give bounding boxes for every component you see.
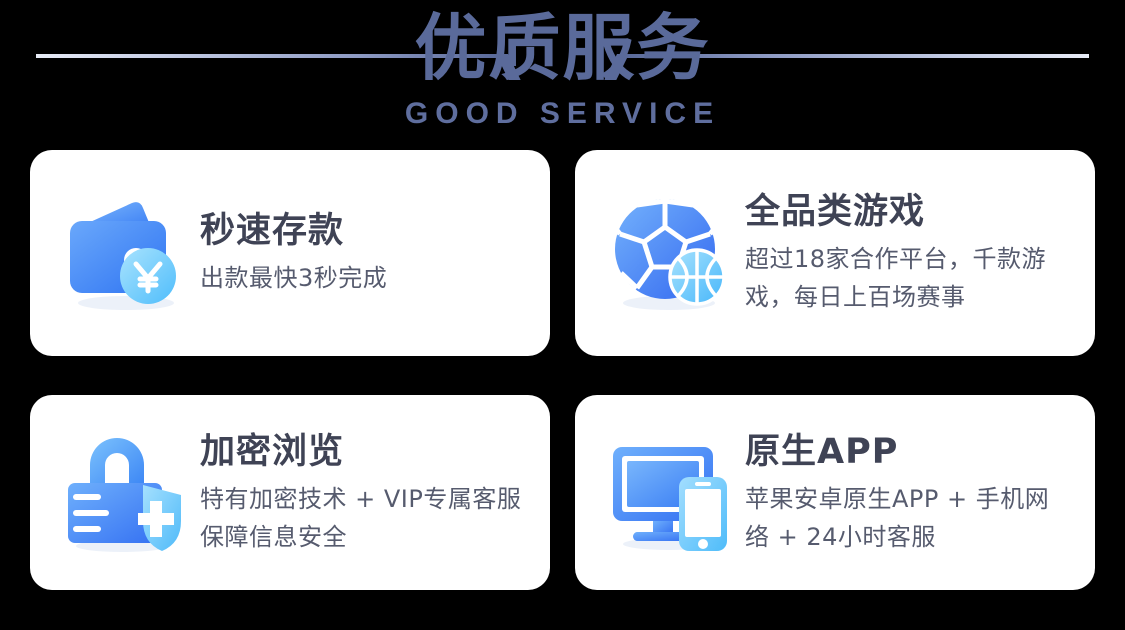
card-text-encryption: 加密浏览 特有加密技术 + VIP专属客服保障信息安全 [196,430,528,556]
lock-shield-icon [56,423,196,563]
card-title: 加密浏览 [200,430,528,474]
card-description: 特有加密技术 + VIP专属客服保障信息安全 [200,480,528,556]
page-title: 优质服务 [0,8,1125,88]
card-title: 原生APP [745,430,1073,474]
feature-card-encryption[interactable]: 加密浏览 特有加密技术 + VIP专属客服保障信息安全 [30,395,550,590]
card-title: 全品类游戏 [745,190,1073,234]
soccer-basketball-icon [601,183,741,323]
monitor-phone-icon [601,423,741,563]
card-text-games: 全品类游戏 超过18家合作平台，千款游戏，每日上百场赛事 [741,190,1073,316]
card-text-deposit: 秒速存款 出款最快3秒完成 [196,209,528,297]
feature-card-grid: 秒速存款 出款最快3秒完成 [30,150,1095,590]
card-text-native-app: 原生APP 苹果安卓原生APP + 手机网络 + 24小时客服 [741,430,1073,556]
page-header: 优质服务 GOOD SERVICE [0,0,1125,140]
card-title: 秒速存款 [200,209,528,253]
page-subtitle: GOOD SERVICE [0,97,1125,131]
card-description: 出款最快3秒完成 [200,259,528,297]
wallet-yen-icon [56,183,196,323]
card-description: 苹果安卓原生APP + 手机网络 + 24小时客服 [745,480,1073,556]
feature-card-deposit[interactable]: 秒速存款 出款最快3秒完成 [30,150,550,356]
card-description: 超过18家合作平台，千款游戏，每日上百场赛事 [745,240,1073,316]
promo-page: 优质服务 GOOD SERVICE [0,0,1125,630]
feature-card-native-app[interactable]: 原生APP 苹果安卓原生APP + 手机网络 + 24小时客服 [575,395,1095,590]
feature-card-games[interactable]: 全品类游戏 超过18家合作平台，千款游戏，每日上百场赛事 [575,150,1095,356]
